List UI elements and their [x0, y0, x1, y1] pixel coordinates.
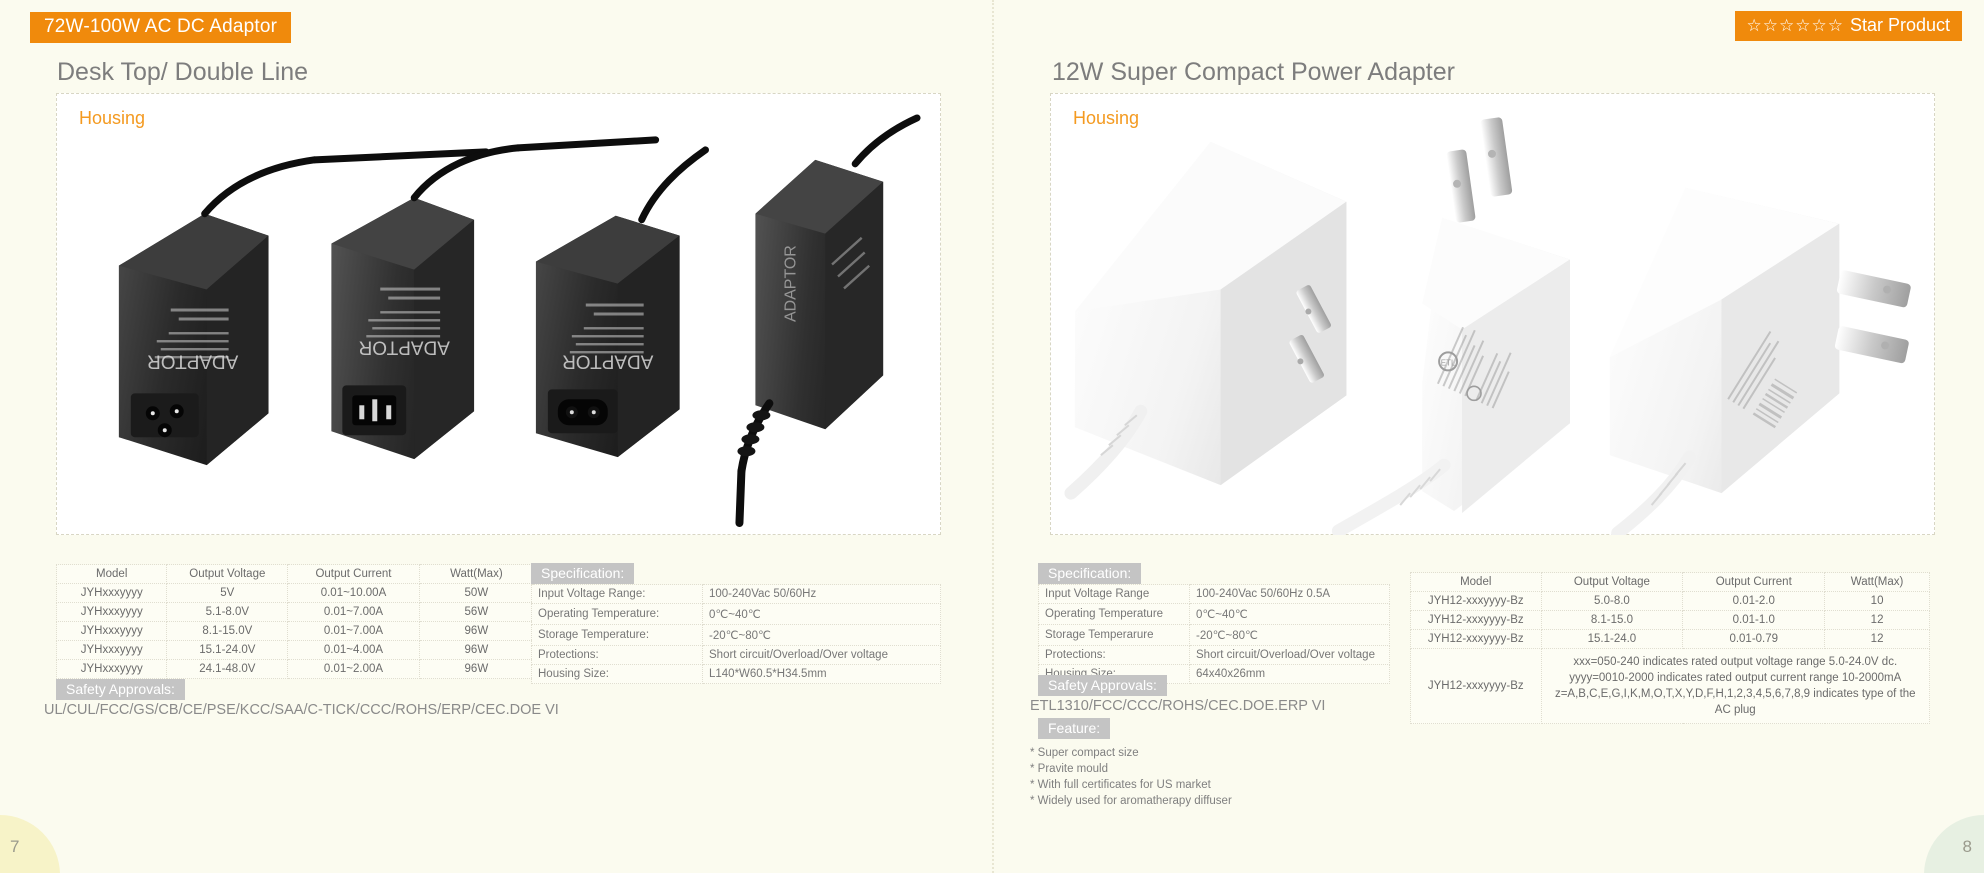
desktop-adaptor-photo: ADAPTOR [57, 94, 940, 535]
cell-voltage: 5V [167, 584, 288, 603]
feature-item: * Pravite mould [1030, 761, 1232, 777]
cell-voltage: 15.1-24.0V [167, 641, 288, 660]
cell-watt: 96W [419, 641, 533, 660]
spec-value: L140*W60.5*H34.5mm [703, 665, 941, 684]
right-safety-heading: Safety Approvals: [1038, 675, 1167, 696]
table-row: JYHxxxyyyy15.1-24.0V0.01~4.00A96W [57, 641, 534, 660]
table-header-row: Model Output Voltage Output Current Watt… [1411, 573, 1930, 592]
cell-model: JYH12-xxxyyyy-Bz [1411, 611, 1542, 630]
cell-watt: 50W [419, 584, 533, 603]
cell-watt: 56W [419, 603, 533, 622]
page-number-right: 8 [1963, 837, 1972, 857]
spec-value: -20℃~80℃ [1190, 625, 1390, 646]
page-corner-right: 8 [1916, 815, 1984, 873]
cell-model: JYHxxxyyyy [57, 584, 167, 603]
left-section-title: Desk Top/ Double Line [57, 58, 308, 87]
spec-value: Short circuit/Overload/Over voltage [703, 646, 941, 665]
note-line: z=A,B,C,E,G,I,K,M,O,T,X,Y,D,F,H,1,2,3,4,… [1548, 686, 1924, 718]
table-note-row: JYH12-xxxyyyy-Bz xxx=050-240 indicates r… [1411, 649, 1930, 724]
left-photo-panel: Housing [56, 93, 941, 535]
cell-current: 0.01~7.00A [288, 603, 420, 622]
table-row: JYH12-xxxyyyy-Bz8.1-15.00.01-1.012 [1411, 611, 1930, 630]
table-header-row: Model Output Voltage Output Current Watt… [57, 565, 534, 584]
col-header-watt: Watt(Max) [1825, 573, 1930, 592]
spec-value: 100-240Vac 50/60Hz 0.5A [1190, 585, 1390, 604]
cell-model: JYHxxxyyyy [57, 660, 167, 679]
cell-current: 0.01~10.00A [288, 584, 420, 603]
left-model-table: Model Output Voltage Output Current Watt… [56, 564, 534, 679]
cell-voltage: 24.1-48.0V [167, 660, 288, 679]
spec-row: Operating Temperature:0℃~40℃ [532, 604, 941, 625]
col-header-current: Output Current [288, 565, 420, 584]
left-safety-text: UL/CUL/FCC/GS/CB/CE/PSE/KCC/SAA/C-TICK/C… [44, 702, 559, 718]
svg-text:ADAPTOR: ADAPTOR [782, 245, 799, 322]
feature-list: * Super compact size * Pravite mould * W… [1030, 745, 1232, 809]
spec-row: Housing Size:L140*W60.5*H34.5mm [532, 665, 941, 684]
table-row: JYH12-xxxyyyy-Bz15.1-24.00.01-0.7912 [1411, 630, 1930, 649]
corner-disc-left [0, 815, 60, 873]
feature-item: * Super compact size [1030, 745, 1232, 761]
table-row: JYHxxxyyyy5.1-8.0V0.01~7.00A56W [57, 603, 534, 622]
spec-value: 0℃~40℃ [703, 604, 941, 625]
spec-row: Protections:Short circuit/Overload/Over … [532, 646, 941, 665]
col-header-watt: Watt(Max) [419, 565, 533, 584]
col-header-model: Model [1411, 573, 1542, 592]
note-line: yyyy=0010-2000 indicates rated output cu… [1548, 670, 1924, 686]
svg-text:ETL: ETL [1441, 358, 1456, 367]
col-header-model: Model [57, 565, 167, 584]
spec-value: Short circuit/Overload/Over voltage [1190, 646, 1390, 665]
cell-voltage: 5.0-8.0 [1541, 592, 1683, 611]
cell-model: JYH12-xxxyyyy-Bz [1411, 592, 1542, 611]
col-header-current: Output Current [1683, 573, 1825, 592]
svg-text:ADAPTOR: ADAPTOR [359, 336, 450, 357]
catalog-page: 72W-100W AC DC Adaptor ☆☆☆☆☆☆ Star Produ… [0, 0, 1984, 873]
cell-watt: 96W [419, 622, 533, 641]
cell-watt: 96W [419, 660, 533, 679]
spec-row: Input Voltage Range100-240Vac 50/60Hz 0.… [1039, 585, 1390, 604]
spec-label: Storage Temperarure [1039, 625, 1190, 646]
table-row: JYHxxxyyyy24.1-48.0V0.01~2.00A96W [57, 660, 534, 679]
col-header-voltage: Output Voltage [167, 565, 288, 584]
table-row: JYH12-xxxyyyy-Bz5.0-8.00.01-2.010 [1411, 592, 1930, 611]
spec-label: Housing Size: [532, 665, 703, 684]
spec-label: Protections: [532, 646, 703, 665]
right-column: 12W Super Compact Power Adapter Housing [992, 0, 1984, 873]
cell-watt: 10 [1825, 592, 1930, 611]
spec-label: Input Voltage Range [1039, 585, 1190, 604]
cell-current: 0.01-0.79 [1683, 630, 1825, 649]
cell-model: JYHxxxyyyy [57, 641, 167, 660]
right-safety-text: ETL1310/FCC/CCC/ROHS/CEC.DOE.ERP VI [1030, 698, 1325, 714]
note-cell: xxx=050-240 indicates rated output volta… [1541, 649, 1930, 724]
spec-row: Storage Temperarure-20℃~80℃ [1039, 625, 1390, 646]
right-specification-table: Input Voltage Range100-240Vac 50/60Hz 0.… [1038, 584, 1390, 684]
feature-item: * Widely used for aromatherapy diffuser [1030, 793, 1232, 809]
cell-current: 0.01~4.00A [288, 641, 420, 660]
right-specification-heading-wrap: Specification: [1038, 563, 1141, 584]
spec-value: 0℃~40℃ [1190, 604, 1390, 625]
cell-current: 0.01-1.0 [1683, 611, 1825, 630]
spec-value: -20℃~80℃ [703, 625, 941, 646]
page-number-left: 7 [10, 837, 19, 857]
right-photo-panel: Housing [1050, 93, 1935, 535]
left-column: Desk Top/ Double Line Housing [0, 0, 992, 873]
table-row: JYHxxxyyyy5V0.01~10.00A50W [57, 584, 534, 603]
cell-voltage: 15.1-24.0 [1541, 630, 1683, 649]
note-line: xxx=050-240 indicates rated output volta… [1548, 654, 1924, 670]
corner-disc-right [1924, 815, 1984, 873]
spec-row: Operating Temperature0℃~40℃ [1039, 604, 1390, 625]
cell-voltage: 8.1-15.0 [1541, 611, 1683, 630]
cell-model: JYHxxxyyyy [57, 603, 167, 622]
spec-label: Operating Temperature [1039, 604, 1190, 625]
spec-row: Input Voltage Range:100-240Vac 50/60Hz [532, 585, 941, 604]
cell-watt: 12 [1825, 611, 1930, 630]
left-specification-heading-wrap: Specification: [531, 563, 634, 584]
right-model-table: Model Output Voltage Output Current Watt… [1410, 572, 1930, 724]
left-safety-heading-wrap: Safety Approvals: [56, 679, 185, 700]
cell-current: 0.01~7.00A [288, 622, 420, 641]
left-safety-heading: Safety Approvals: [56, 679, 185, 700]
cell-voltage: 8.1-15.0V [167, 622, 288, 641]
right-safety-heading-wrap: Safety Approvals: [1038, 675, 1167, 696]
cell-current: 0.01-2.0 [1683, 592, 1825, 611]
cell-watt: 12 [1825, 630, 1930, 649]
svg-text:ADAPTOR: ADAPTOR [562, 350, 653, 371]
feature-heading-wrap: Feature: [1038, 718, 1110, 739]
spec-value: 64x40x26mm [1190, 665, 1390, 684]
table-row: JYHxxxyyyy8.1-15.0V0.01~7.00A96W [57, 622, 534, 641]
cell-current: 0.01~2.00A [288, 660, 420, 679]
spec-label: Protections: [1039, 646, 1190, 665]
left-specification-table: Input Voltage Range:100-240Vac 50/60Hz O… [531, 584, 941, 684]
svg-text:ADAPTOR: ADAPTOR [147, 350, 238, 371]
right-specification-heading: Specification: [1038, 563, 1141, 584]
col-header-voltage: Output Voltage [1541, 573, 1683, 592]
cell-model: JYH12-xxxyyyy-Bz [1411, 630, 1542, 649]
spec-value: 100-240Vac 50/60Hz [703, 585, 941, 604]
note-model: JYH12-xxxyyyy-Bz [1411, 649, 1542, 724]
feature-heading: Feature: [1038, 718, 1110, 739]
wall-adaptor-photo: ETL [1051, 94, 1934, 535]
spec-label: Storage Temperature: [532, 625, 703, 646]
spec-label: Operating Temperature: [532, 604, 703, 625]
spec-row: Storage Temperature:-20℃~80℃ [532, 625, 941, 646]
page-corner-left: 7 [0, 815, 68, 873]
spec-row: Protections:Short circuit/Overload/Over … [1039, 646, 1390, 665]
right-section-title: 12W Super Compact Power Adapter [1052, 58, 1455, 87]
cell-voltage: 5.1-8.0V [167, 603, 288, 622]
left-specification-heading: Specification: [531, 563, 634, 584]
spec-label: Input Voltage Range: [532, 585, 703, 604]
feature-item: * With full certificates for US market [1030, 777, 1232, 793]
cell-model: JYHxxxyyyy [57, 622, 167, 641]
